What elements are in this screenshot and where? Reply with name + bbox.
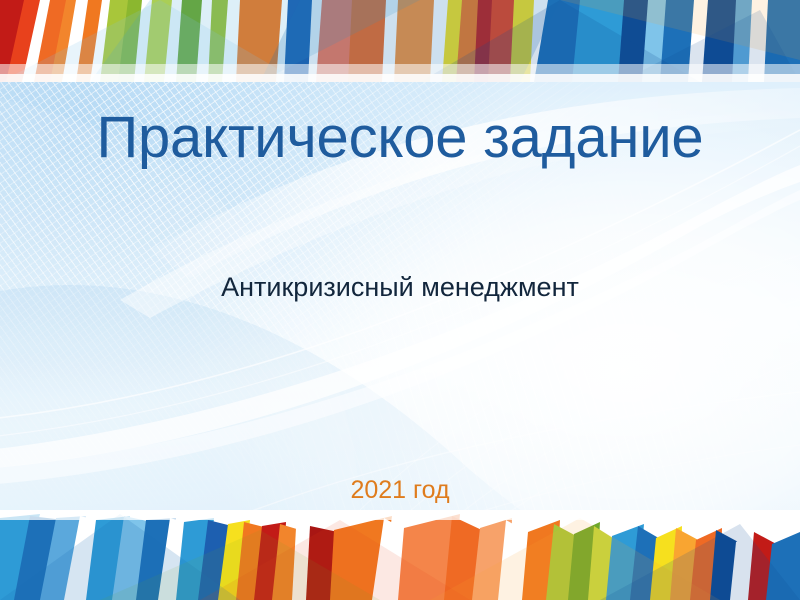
slide-subtitle: Антикризисный менеджмент <box>0 272 800 303</box>
top-border-shards <box>0 0 800 82</box>
top-decorative-border <box>0 0 800 82</box>
title-slide: Практическое задание Антикризисный менед… <box>0 0 800 600</box>
bottom-decorative-border <box>0 510 800 600</box>
bottom-border-shards <box>0 510 800 600</box>
slide-title: Практическое задание <box>0 108 800 169</box>
slide-year: 2021 год <box>0 476 800 505</box>
